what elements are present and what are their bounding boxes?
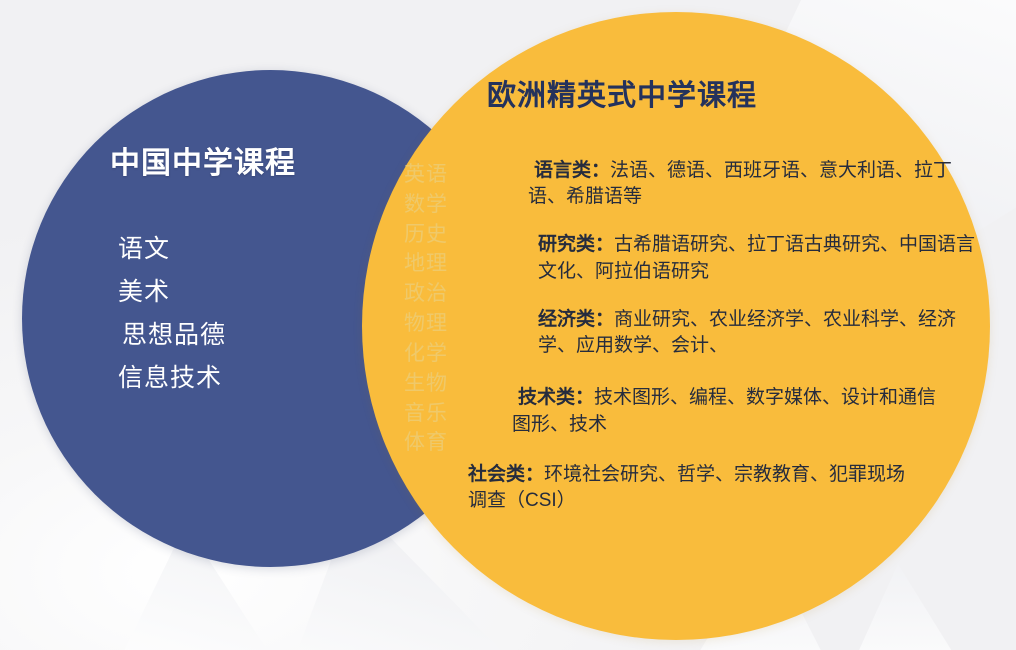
course-group-research: 研究类：古希腊语研究、拉丁语古典研究、中国语言文化、阿拉伯语研究 bbox=[538, 232, 983, 284]
course-group-economics: 经济类：商业研究、农业经济学、农业科学、经济学、应用数学、会计、 bbox=[538, 307, 988, 359]
list-item: 体育 bbox=[393, 428, 459, 458]
list-item: 生物 bbox=[393, 369, 459, 399]
right-circle-title: 欧洲精英式中学课程 bbox=[487, 72, 757, 114]
list-item: 语文 bbox=[118, 228, 348, 271]
list-item: 音乐 bbox=[393, 399, 459, 429]
list-item: 历史 bbox=[393, 220, 459, 250]
list-item: 思想品德 bbox=[118, 314, 348, 357]
group-label: 语言类： bbox=[534, 160, 610, 181]
course-group-social: 社会类：环境社会研究、哲学、宗教教育、犯罪现场调查（CSI） bbox=[468, 462, 908, 514]
intersection-subject-list: 英语 数学 历史 地理 政治 物理 化学 生物 音乐 体育 bbox=[393, 160, 459, 458]
left-circle-subject-list: 语文 美术 思想品德 信息技术 bbox=[118, 228, 348, 400]
list-item: 信息技术 bbox=[118, 357, 348, 400]
left-circle-title: 中国中学课程 bbox=[110, 138, 400, 182]
list-item: 数学 bbox=[393, 190, 459, 220]
list-item: 地理 bbox=[393, 249, 459, 279]
group-label: 技术类： bbox=[518, 387, 594, 408]
right-circle-group-list: 语言类：法语、德语、西班牙语、意大利语、拉丁语、希腊语等 研究类：古希腊语研究、… bbox=[460, 158, 960, 531]
course-group-technology: 技术类：技术图形、编程、数字媒体、设计和通信图形、技术 bbox=[512, 385, 952, 437]
group-label: 社会类： bbox=[468, 464, 544, 485]
group-label: 研究类： bbox=[538, 234, 614, 255]
list-item: 化学 bbox=[393, 339, 459, 369]
course-group-language: 语言类：法语、德语、西班牙语、意大利语、拉丁语、希腊语等 bbox=[528, 158, 958, 210]
venn-diagram-stage: 中国中学课程 语文 美术 思想品德 信息技术 英语 数学 历史 地理 政治 物理… bbox=[0, 0, 1016, 650]
text-layer: 中国中学课程 语文 美术 思想品德 信息技术 英语 数学 历史 地理 政治 物理… bbox=[0, 0, 1016, 650]
list-item: 美术 bbox=[118, 271, 348, 314]
list-item: 政治 bbox=[393, 279, 459, 309]
group-label: 经济类： bbox=[538, 309, 614, 330]
list-item: 物理 bbox=[393, 309, 459, 339]
list-item: 英语 bbox=[393, 160, 459, 190]
